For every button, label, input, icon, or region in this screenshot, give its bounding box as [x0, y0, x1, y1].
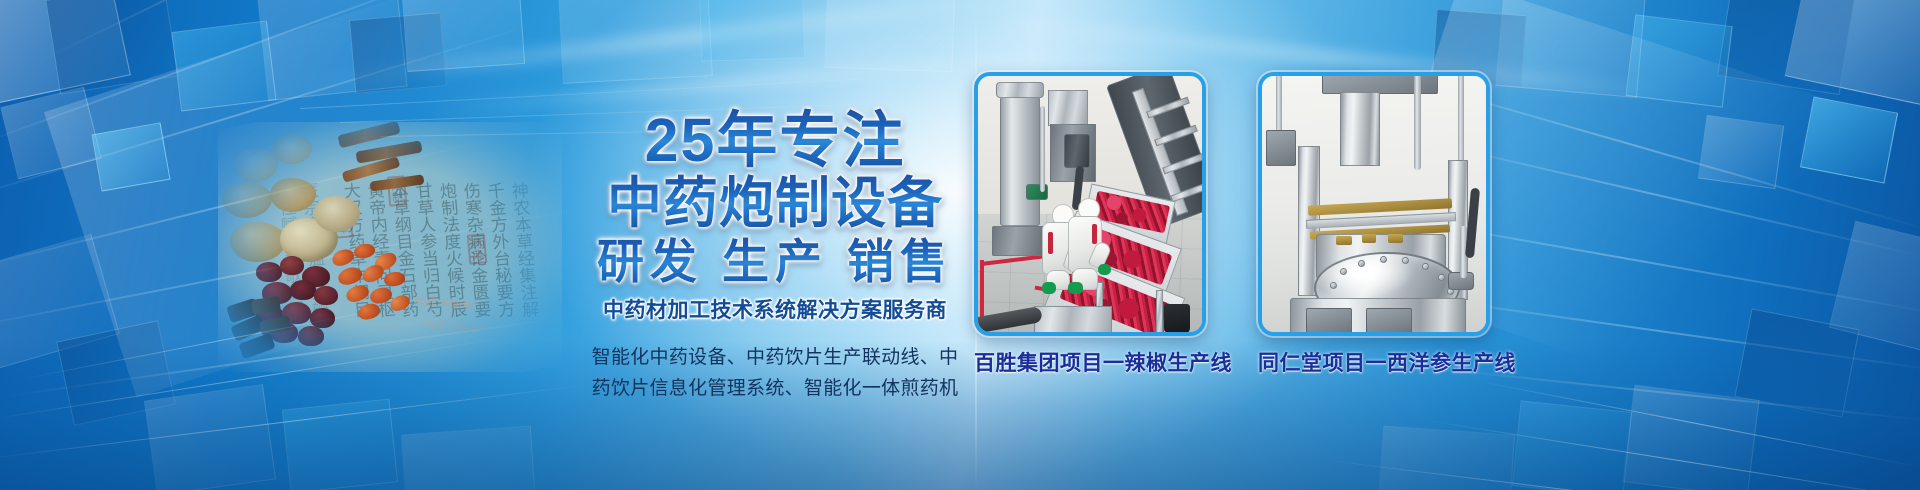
decorative-cube	[349, 12, 447, 94]
herb-bark-pile	[226, 298, 322, 368]
description-line-1: 智能化中药设备、中药饮片生产联动线、中	[584, 342, 966, 373]
floor-marking-line	[980, 260, 984, 322]
decorative-cube	[0, 234, 120, 370]
glow-band	[302, 0, 1058, 92]
foreground-table	[1034, 306, 1112, 332]
headline-block: 25年专注 中药炮制设备 研发 生产 销售 中药材加工技术系统解决方案服务商 智…	[560, 108, 990, 404]
ginseng-production-line-photo	[1262, 76, 1486, 332]
decorative-cube	[1785, 0, 1920, 109]
herb-goji-cluster	[326, 242, 436, 332]
table-leg	[1156, 290, 1163, 332]
photo-frame	[974, 72, 1206, 336]
base-panel	[1366, 308, 1412, 332]
headline-line-2: 中药炮制设备	[560, 172, 990, 234]
decorative-cube	[401, 0, 525, 72]
hero-banner: 大汉方药草本纲目 黄帝内经素问灵枢 本草纲目金石部药 甘草人参当归白芍 炮制法度…	[0, 0, 1920, 490]
waste-bin	[1164, 304, 1190, 332]
herb-manuscript-collage: 大汉方药草本纲目 黄帝内经素问灵枢 本草纲目金石部药 甘草人参当归白芍 炮制法度…	[218, 122, 562, 372]
machine-hopper	[1048, 90, 1088, 126]
decorative-cube	[257, 0, 408, 101]
decorative-cube	[91, 122, 170, 191]
decorative-cube	[1622, 385, 1759, 490]
decorative-cube	[1717, 0, 1855, 95]
tank-valve	[1388, 234, 1403, 243]
decorative-cube	[144, 384, 276, 490]
decorative-cube	[557, 0, 713, 84]
light-ray	[300, 70, 1019, 109]
decorative-cube	[1377, 426, 1515, 490]
control-box	[1266, 130, 1296, 166]
decorative-cube	[171, 20, 276, 111]
photo-card-chili[interactable]: 百胜集团项目一辣椒生产线	[974, 72, 1206, 377]
ceiling-pipe	[1414, 76, 1421, 170]
decorative-cube	[0, 0, 131, 106]
base-panel	[1306, 308, 1352, 332]
photo-caption: 同仁堂项目一西洋参生产线	[1258, 347, 1490, 377]
description: 智能化中药设备、中药饮片生产联动线、中 药饮片信息化管理系统、智能化一体煎药机	[584, 342, 966, 404]
chili-production-line-photo	[978, 76, 1202, 332]
overhead-column	[1340, 92, 1380, 166]
machine-cylinder	[1000, 94, 1040, 226]
decorative-cube	[1829, 221, 1920, 362]
decorative-cube	[401, 426, 537, 490]
decorative-cube	[699, 0, 806, 62]
photo-frame	[1258, 72, 1490, 336]
machine-motor	[1064, 134, 1090, 168]
decorative-cube	[45, 0, 179, 95]
decorative-cube	[282, 399, 398, 490]
machine-cap	[996, 82, 1044, 98]
decorative-cube	[56, 320, 176, 426]
decorative-cube	[1734, 308, 1859, 417]
manuscript-seal: 药典	[467, 233, 488, 264]
photo-card-ginseng[interactable]: 同仁堂项目一西洋参生产线	[1258, 72, 1490, 377]
decorative-cube	[824, 0, 955, 72]
headline-line-1: 25年专注	[560, 108, 990, 172]
tank-valve	[1336, 236, 1352, 245]
description-line-2: 药饮片信息化管理系统、智能化一体煎药机	[584, 373, 966, 404]
decorative-cube	[1625, 14, 1732, 107]
decorative-cube	[0, 87, 101, 180]
decorative-cube	[1800, 96, 1898, 183]
decorative-cube	[1512, 400, 1632, 490]
decorative-cube	[1698, 115, 1784, 189]
ceiling-pipe	[1276, 76, 1282, 132]
tank-valve	[1362, 234, 1376, 243]
decorative-cube	[1495, 0, 1646, 98]
machine-pipe	[1040, 106, 1045, 192]
worker-figure	[1066, 198, 1108, 294]
photo-caption: 百胜集团项目一辣椒生产线	[974, 347, 1206, 377]
headline-line-3: 研发 生产 销售	[560, 234, 990, 290]
light-streak	[40, 0, 436, 62]
tagline: 中药材加工技术系统解决方案服务商	[560, 294, 990, 324]
